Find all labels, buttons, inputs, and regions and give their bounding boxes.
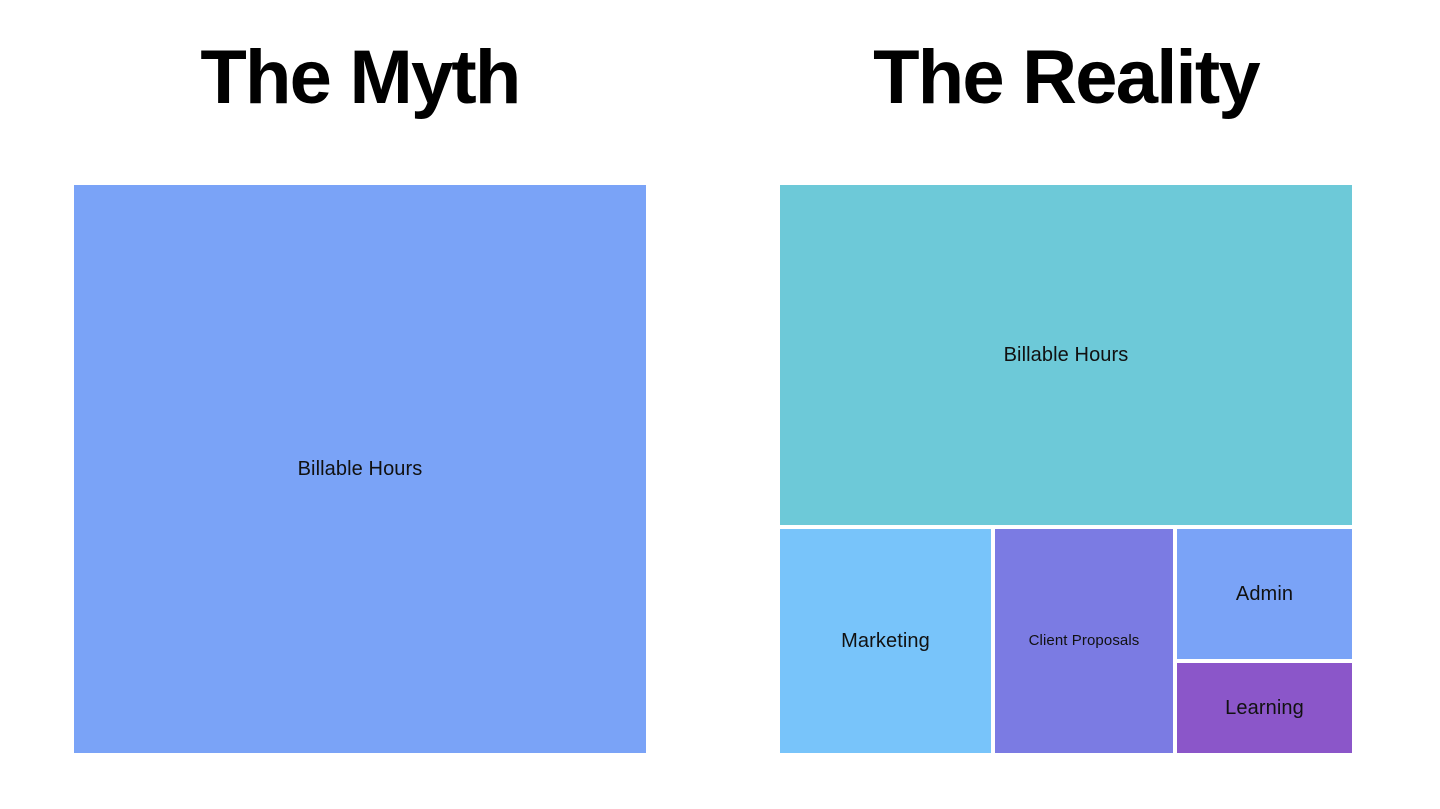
treemap-cell-label: Billable Hours — [298, 457, 423, 481]
treemap-cell-label: Client Proposals — [1029, 632, 1140, 650]
treemap-myth: Billable Hours — [74, 185, 646, 753]
treemap-cell-label: Learning — [1225, 696, 1304, 720]
treemap-cell-billable-hours-myth[interactable]: Billable Hours — [74, 185, 646, 753]
panel-reality-title: The Reality — [780, 38, 1352, 119]
treemap-cell-client-proposals[interactable]: Client Proposals — [995, 529, 1173, 753]
treemap-cell-learning[interactable]: Learning — [1177, 663, 1352, 753]
treemap-cell-label: Billable Hours — [1004, 343, 1129, 367]
treemap-cell-marketing[interactable]: Marketing — [780, 529, 991, 753]
infographic-canvas: The Myth Billable Hours The Reality Bill… — [0, 0, 1440, 809]
treemap-cell-label: Marketing — [841, 629, 930, 653]
treemap-cell-billable-hours-reality[interactable]: Billable Hours — [780, 185, 1352, 525]
treemap-cell-admin[interactable]: Admin — [1177, 529, 1352, 659]
treemap-reality: Billable Hours Marketing Client Proposal… — [780, 185, 1352, 753]
panel-myth-title: The Myth — [74, 38, 646, 119]
treemap-cell-label: Admin — [1236, 582, 1293, 606]
